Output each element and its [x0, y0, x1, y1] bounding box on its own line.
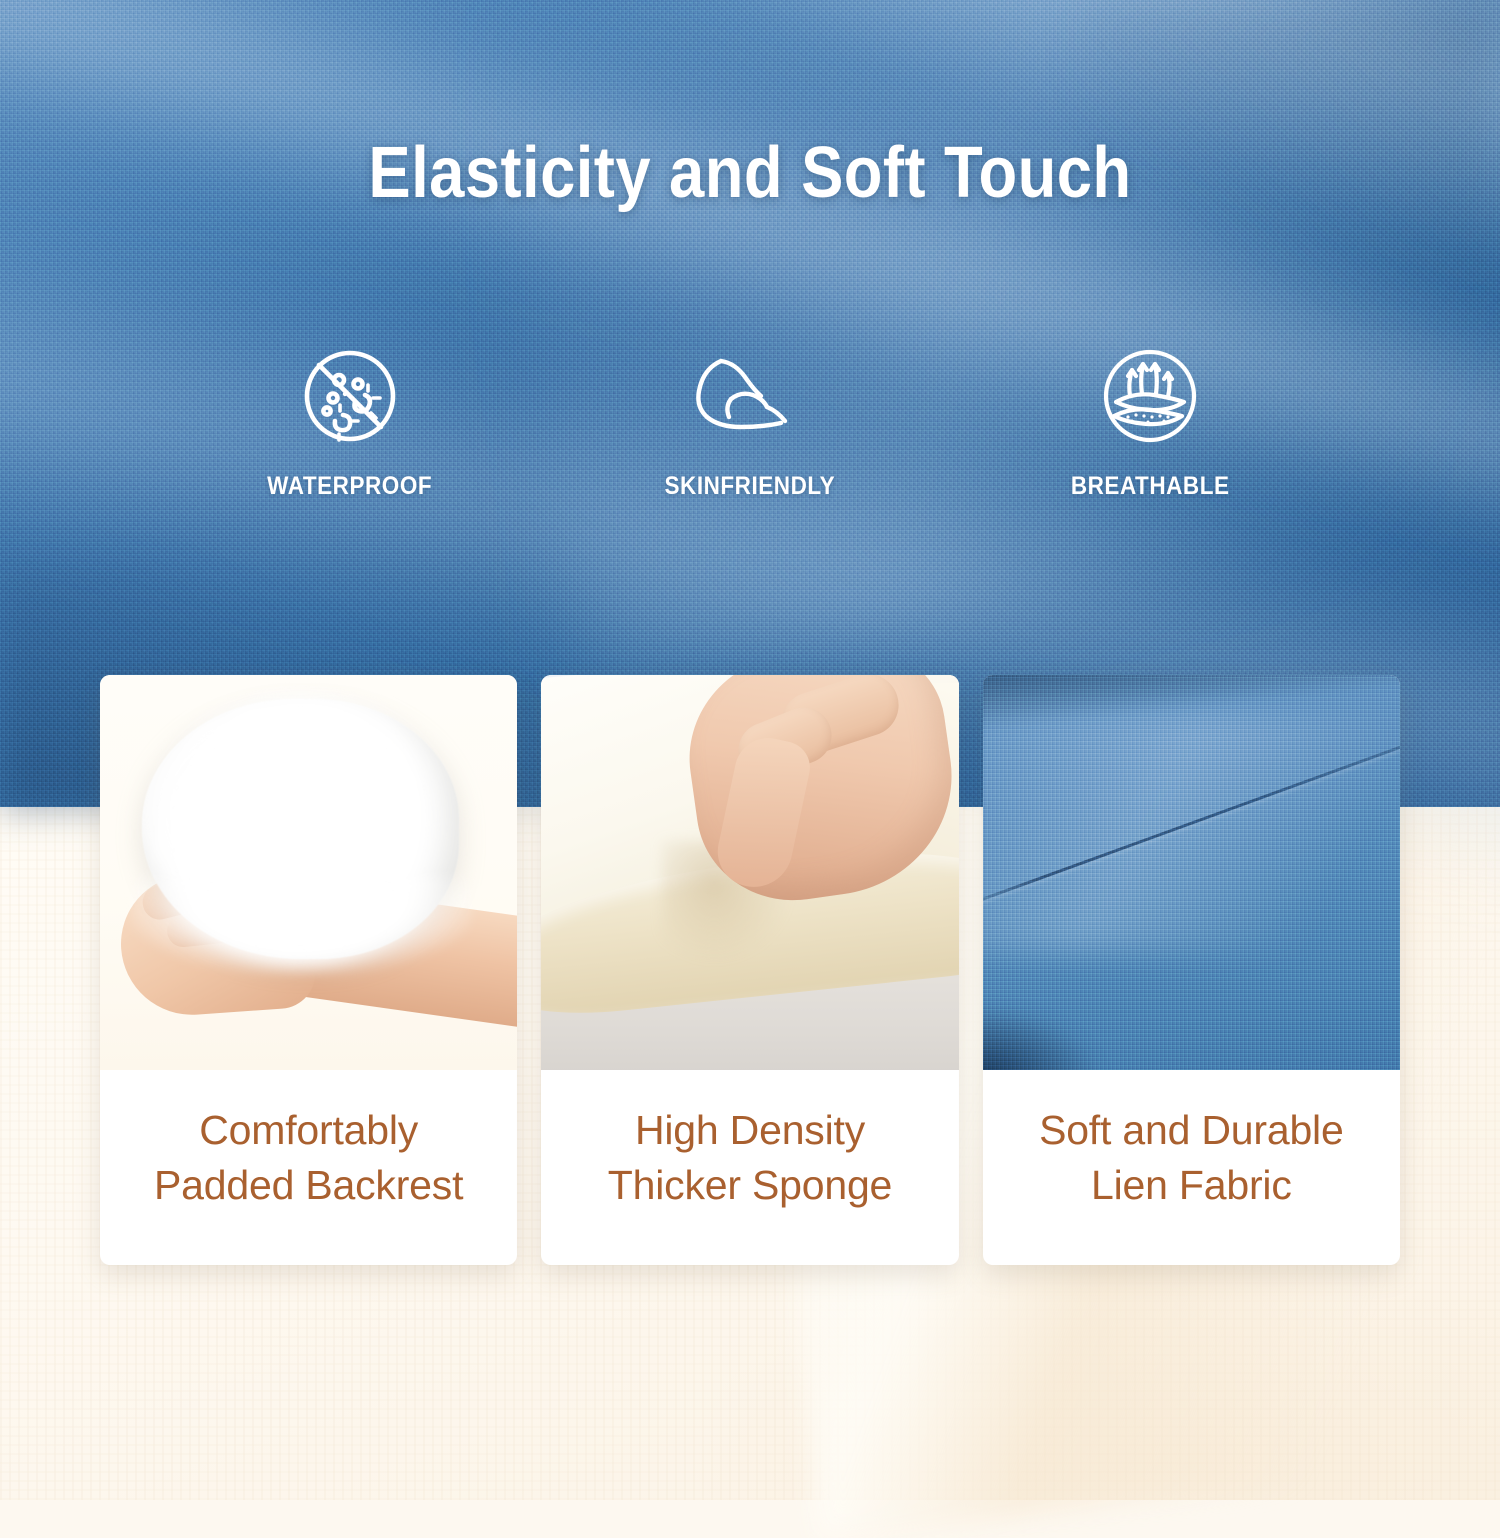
- card-caption: Comfortably Padded Backrest: [100, 1070, 517, 1265]
- infographic-canvas: Elasticity and Soft Touch WA: [0, 0, 1500, 1500]
- card-caption: High Density Thicker Sponge: [541, 1070, 958, 1265]
- blue-linen-fabric-photo: [983, 675, 1400, 1070]
- caption-line-2: Lien Fabric: [1091, 1162, 1292, 1208]
- fiberfill-cloud: [142, 699, 459, 960]
- caption-line-2: Padded Backrest: [154, 1162, 463, 1208]
- card-caption: Soft and Durable Lien Fabric: [983, 1070, 1400, 1265]
- hand-touch-fabric-icon: [685, 336, 815, 456]
- feature-card-thicker-sponge[interactable]: High Density Thicker Sponge: [541, 675, 958, 1265]
- feature-breathable: BREATHABLE: [950, 336, 1350, 526]
- feature-icon-row: WATERPROOF SKINFRIENDLY: [150, 336, 1350, 526]
- feature-label: BREATHABLE: [1071, 472, 1230, 501]
- feature-waterproof: WATERPROOF: [150, 336, 550, 526]
- caption-line-1: Soft and Durable: [1039, 1107, 1344, 1153]
- feature-card-row: Comfortably Padded Backrest High Density: [100, 675, 1400, 1265]
- linen-weave-texture: [983, 675, 1400, 1070]
- feature-card-lien-fabric[interactable]: Soft and Durable Lien Fabric: [983, 675, 1400, 1265]
- no-bacteria-icon: [295, 336, 405, 456]
- hand-holding-fiberfill-photo: [100, 675, 517, 1070]
- feature-label: WATERPROOF: [268, 472, 433, 501]
- caption-line-1: High Density: [635, 1107, 865, 1153]
- feature-skinfriendly: SKINFRIENDLY: [550, 336, 950, 526]
- hand-pressing-foam-photo: [541, 675, 958, 1070]
- breathable-airflow-icon: [1094, 336, 1206, 456]
- page-title: Elasticity and Soft Touch: [90, 132, 1410, 214]
- caption-line-2: Thicker Sponge: [608, 1162, 892, 1208]
- feature-label: SKINFRIENDLY: [665, 472, 836, 501]
- feature-card-padded-backrest[interactable]: Comfortably Padded Backrest: [100, 675, 517, 1265]
- caption-line-1: Comfortably: [199, 1107, 418, 1153]
